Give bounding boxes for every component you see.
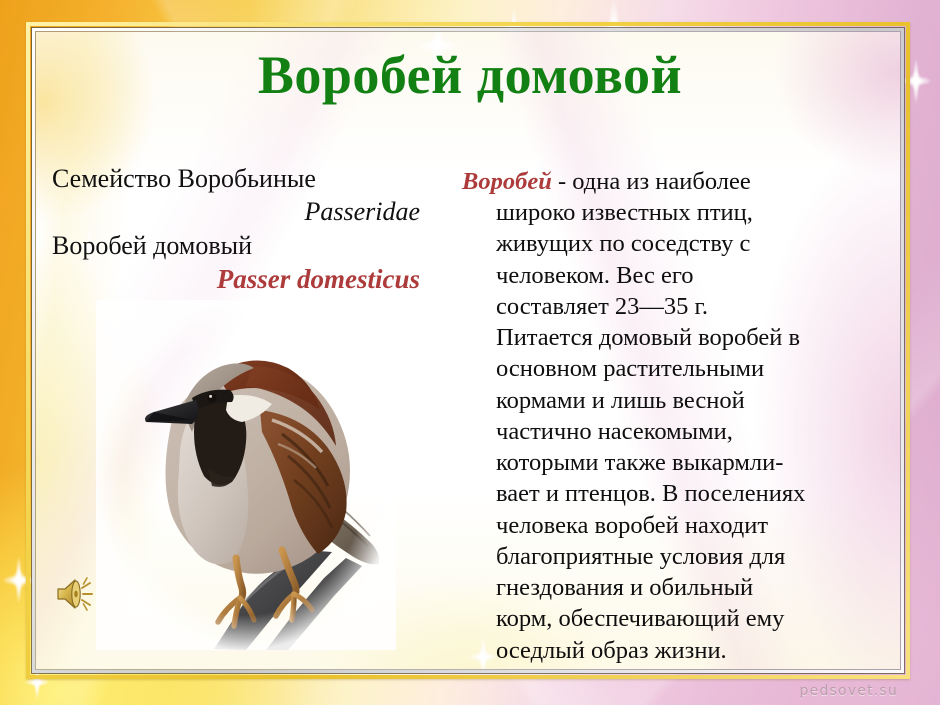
family-latin-name: Passeridae xyxy=(304,197,420,226)
description-line: - одна из наиболее xyxy=(552,168,751,195)
description-line: основном растительными xyxy=(496,353,882,384)
watermark: pedsovet.su xyxy=(800,683,898,699)
description-line: частично насекомыми, xyxy=(496,416,882,447)
description-line: вает и птенцов. В поселениях xyxy=(496,478,882,509)
presentation-slide: Воробей домовой Семейство Воробьиные Pas… xyxy=(0,0,940,705)
family-label: Семейство Воробьиные xyxy=(52,162,452,195)
speaker-sound-icon[interactable] xyxy=(54,574,100,614)
species-latin-name: Passer domesticus xyxy=(217,264,420,294)
description-line: которыми также выкармли- xyxy=(496,447,882,478)
description-line: человека воробей находит xyxy=(496,510,882,541)
lead-word: Воробей xyxy=(462,168,552,195)
description-line: гнездования и обильный xyxy=(496,572,882,603)
description-line: благоприятные условия для xyxy=(496,541,882,572)
species-label: Воробей домовый xyxy=(52,229,452,262)
description-line: Питается домовый воробей в xyxy=(496,322,882,353)
description-line: корм, обеспечивающий ему xyxy=(496,603,882,634)
slide-title: Воробей домовой xyxy=(0,48,940,102)
description-line: живущих по соседству с xyxy=(496,228,882,259)
description-line: оседлый образ жизни. xyxy=(496,635,882,666)
description-line: человеком. Вес его xyxy=(496,260,882,291)
description-line: широко известных птиц, xyxy=(496,197,882,228)
description-line: составляет 23—35 г. xyxy=(496,291,882,322)
taxonomy-block: Семейство Воробьиные Passeridae Воробей … xyxy=(52,162,452,296)
description-text: Воробей - одна из наиболее широко извест… xyxy=(462,166,882,666)
sparrow-image xyxy=(96,300,396,650)
description-line: кормами и лишь весной xyxy=(496,385,882,416)
